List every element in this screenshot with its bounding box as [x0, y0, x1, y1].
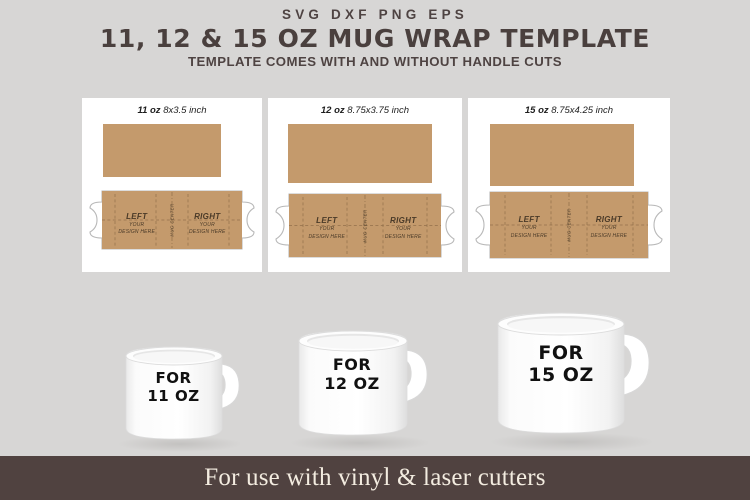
- mug-text-line1-12oz: FOR: [298, 356, 406, 375]
- wrap-with-handle-cut-15oz: LEFT YOUR DESIGN HERE RIGHT YOUR DESIGN …: [474, 191, 664, 259]
- mug-mockup-15oz[interactable]: FOR 15 OZ: [488, 284, 668, 452]
- wrap-no-handle-cut-12oz: [288, 124, 432, 183]
- mug-text-line2-11oz: 11 OZ: [126, 388, 221, 406]
- mug-text-15oz: FOR 15 OZ: [498, 342, 624, 387]
- card-label-15oz: 15 oz 8.75x4.25 inch: [468, 105, 670, 116]
- footer-banner-text: For use with vinyl & laser cutters: [204, 464, 545, 492]
- template-card-15oz[interactable]: 15 oz 8.75x4.25 inch: [468, 98, 670, 272]
- mug-text-line1-15oz: FOR: [498, 342, 624, 364]
- mug-text-12oz: FOR 12 OZ: [298, 356, 406, 394]
- wrap-outline-svg-11oz: [88, 190, 256, 250]
- mug-mockup-11oz[interactable]: FOR 11 OZ: [118, 322, 253, 452]
- wrap-with-handle-cut-12oz: LEFT YOUR DESIGN HERE RIGHT YOUR DESIGN …: [274, 193, 456, 258]
- footer-banner: For use with vinyl & laser cutters: [0, 456, 750, 500]
- card-dimensions-15oz: 8.75x4.25 inch: [551, 105, 613, 116]
- poster-canvas: SVG DXF PNG EPS 11, 12 & 15 OZ MUG WRAP …: [0, 0, 750, 500]
- mug-text-line2-15oz: 15 OZ: [498, 364, 624, 386]
- mug-text-line1-11oz: FOR: [126, 370, 221, 388]
- wrap-with-handle-cut-11oz: LEFT YOUR DESIGN HERE RIGHT YOUR DESIGN …: [88, 190, 256, 250]
- card-label-12oz: 12 oz 8.75x3.75 inch: [268, 105, 462, 116]
- template-card-11oz[interactable]: 11 oz 8x3.5 inch: [82, 98, 262, 272]
- page-subtitle: TEMPLATE COMES WITH AND WITHOUT HANDLE C…: [0, 54, 750, 69]
- mug-mockup-12oz[interactable]: FOR 12 OZ: [290, 304, 442, 452]
- page-title: 11, 12 & 15 OZ MUG WRAP TEMPLATE: [0, 24, 750, 53]
- card-size-12oz: 12 oz: [321, 105, 345, 116]
- wrap-outline-svg-15oz: [474, 191, 664, 259]
- file-formats-line: SVG DXF PNG EPS: [0, 7, 750, 22]
- mug-mockup-row: FOR 11 OZ: [0, 272, 750, 452]
- wrap-no-handle-cut-11oz: [103, 124, 221, 177]
- card-size-11oz: 11 oz: [137, 105, 160, 116]
- card-dimensions-11oz: 8x3.5 inch: [163, 105, 206, 116]
- mug-text-line2-12oz: 12 OZ: [298, 375, 406, 394]
- card-size-15oz: 15 oz: [525, 105, 549, 116]
- wrap-no-handle-cut-15oz: [490, 124, 634, 186]
- mug-text-11oz: FOR 11 OZ: [126, 370, 221, 405]
- template-card-12oz[interactable]: 12 oz 8.75x3.75 inch: [268, 98, 462, 272]
- card-dimensions-12oz: 8.75x3.75 inch: [347, 105, 409, 116]
- template-card-row: 11 oz 8x3.5 inch: [82, 98, 670, 272]
- wrap-outline-svg-12oz: [274, 193, 456, 258]
- card-label-11oz: 11 oz 8x3.5 inch: [82, 105, 262, 116]
